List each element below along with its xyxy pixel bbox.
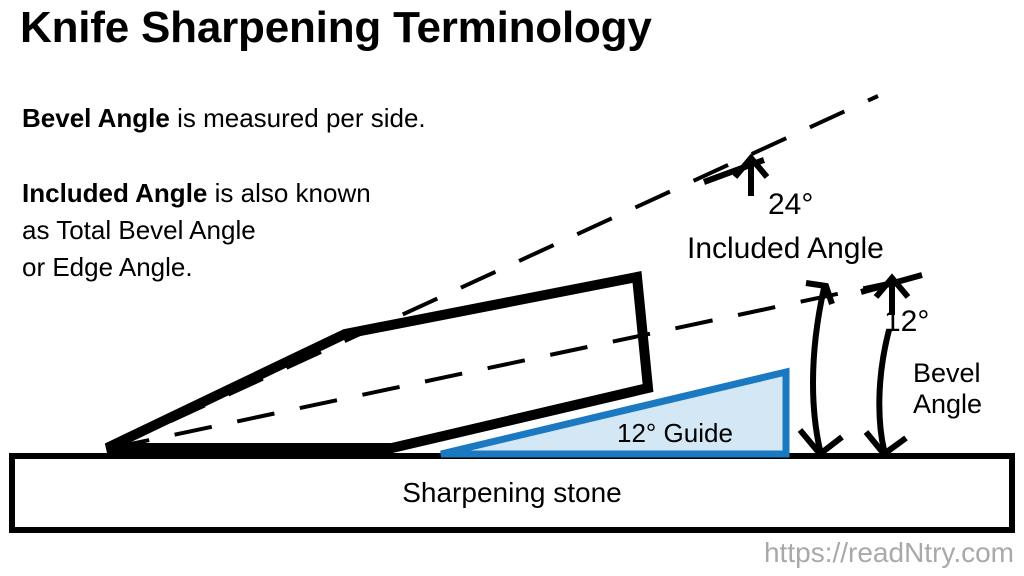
paragraph-bevel-angle: Bevel Angle is measured per side. — [22, 100, 426, 137]
bevel-angle-label-line1: Bevel — [913, 358, 982, 389]
paragraph-included-angle-line1: Included Angle is also known — [22, 175, 371, 212]
watermark-url: https://readNtry.com — [0, 537, 1014, 569]
included-angle-pointer-arrow — [704, 158, 767, 196]
paragraph-included-angle: Included Angle is also known as Total Be… — [22, 175, 371, 286]
angle-guide-label: 12° Guide — [617, 418, 733, 449]
paragraph-bevel-angle-rest: is measured per side. — [170, 103, 426, 133]
sharpening-stone-label: Sharpening stone — [0, 477, 1024, 509]
paragraph-included-angle-line2: as Total Bevel Angle — [22, 212, 371, 249]
paragraph-included-angle-line3: or Edge Angle. — [22, 249, 371, 286]
page-title: Knife Sharpening Terminology — [20, 2, 652, 55]
bevel-angle-value: 12° — [884, 305, 929, 340]
bevel-angle-label-line2: Angle — [913, 389, 982, 420]
included-angle-arc — [800, 283, 842, 454]
paragraph-bevel-angle-lead: Bevel Angle — [22, 103, 170, 133]
included-angle-label: Included Angle — [687, 232, 884, 267]
bevel-angle-label: Bevel Angle — [913, 358, 982, 420]
paragraph-included-angle-lead: Included Angle — [22, 178, 207, 208]
included-angle-value: 24° — [768, 188, 813, 223]
bevel-angle-arc — [866, 330, 906, 454]
diagram-page: Knife Sharpening Terminology Bevel Angle… — [0, 0, 1024, 576]
paragraph-included-angle-rest: is also known — [207, 178, 370, 208]
